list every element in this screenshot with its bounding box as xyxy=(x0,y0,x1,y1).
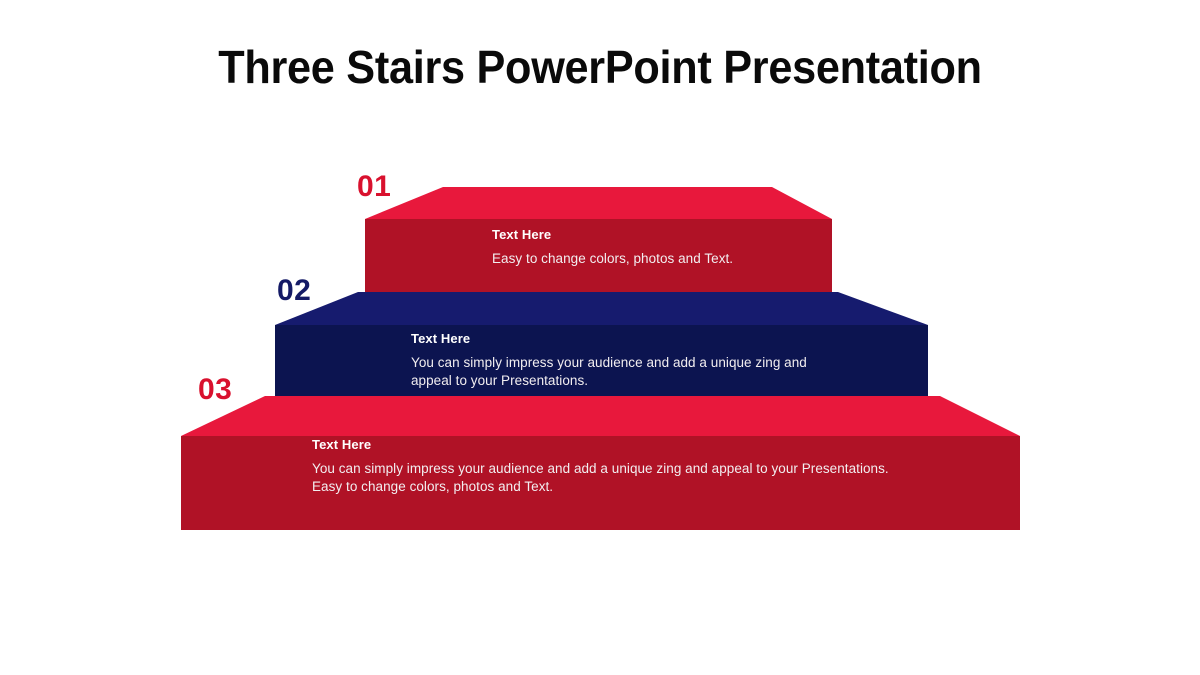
step-02-text-block: Text Here You can simply impress your au… xyxy=(411,330,831,390)
step-number-02: 02 xyxy=(277,276,311,306)
step-03-heading: Text Here xyxy=(312,436,912,454)
step-01-heading: Text Here xyxy=(492,226,822,244)
step-03-text-block: Text Here You can simply impress your au… xyxy=(312,436,912,496)
step-02-body: You can simply impress your audience and… xyxy=(411,354,831,390)
step-03-top-face xyxy=(181,396,1020,436)
slide-canvas: Three Stairs PowerPoint Presentation 01 … xyxy=(0,0,1200,675)
step-01-text-block: Text Here Easy to change colors, photos … xyxy=(492,226,822,268)
step-01-top-face xyxy=(365,187,832,219)
step-02-heading: Text Here xyxy=(411,330,831,348)
step-number-03: 03 xyxy=(198,375,232,405)
step-02-top-face xyxy=(275,292,928,325)
step-03-body: You can simply impress your audience and… xyxy=(312,460,912,496)
step-01-body: Easy to change colors, photos and Text. xyxy=(492,250,822,268)
step-number-01: 01 xyxy=(357,172,391,202)
